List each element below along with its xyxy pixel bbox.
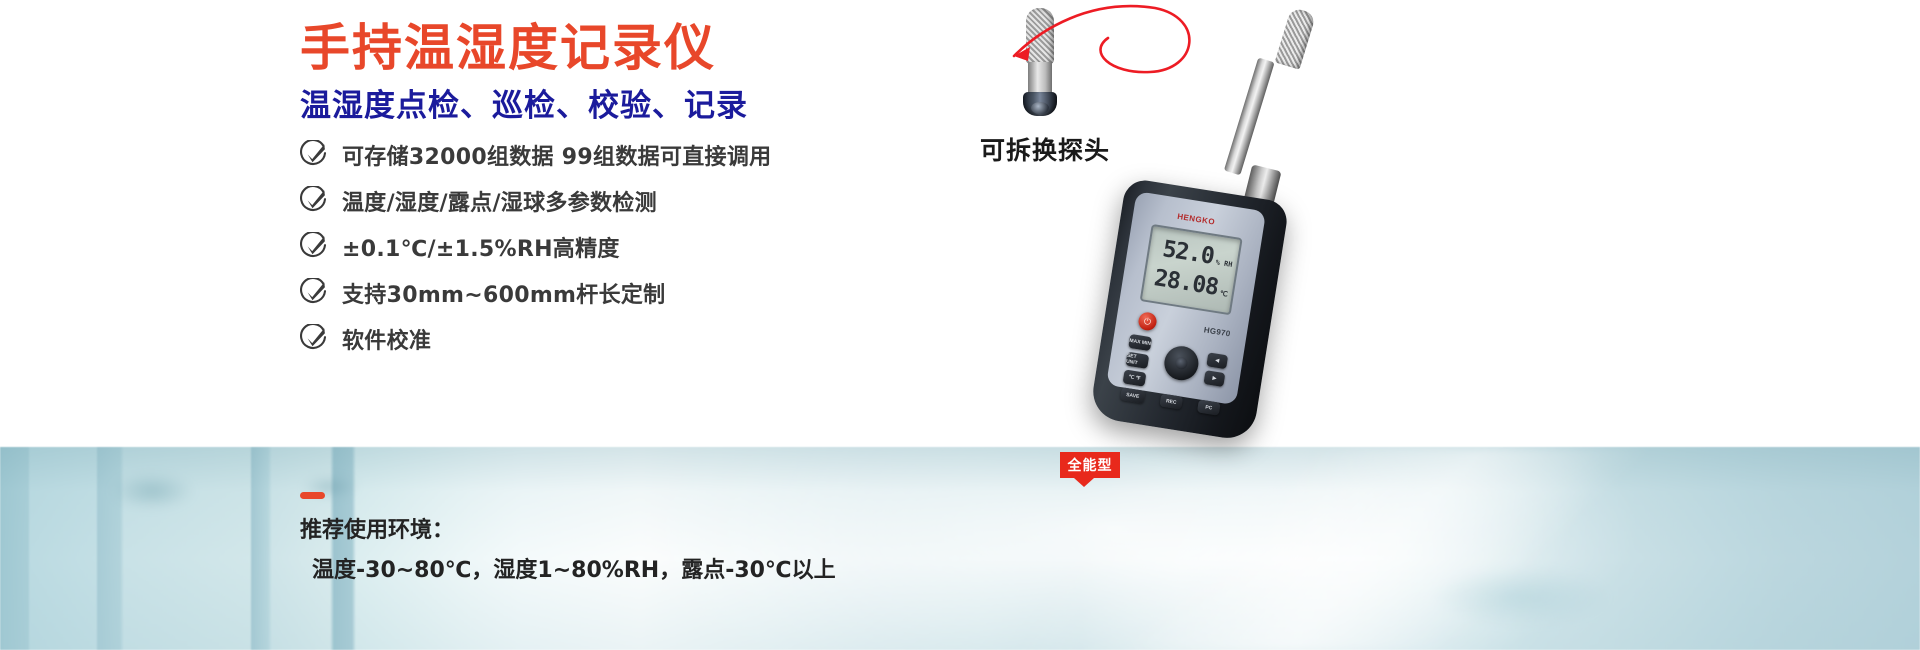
lcd-temperature-unit: ℃ — [1219, 289, 1228, 298]
lcd-humidity-value: 52.0 — [1161, 236, 1216, 270]
product-banner: 手持温湿度记录仪 温湿度点检、巡检、校验、记录 可存储32000组数据 99组数… — [0, 0, 1920, 650]
page-subtitle: 温湿度点检、巡检、校验、记录 — [300, 80, 748, 125]
handheld-meter-photo: HENGKO 52.0 % RH 28.08 ℃ ⏻ HG970 — [1122, 190, 1312, 440]
circle-check-icon — [300, 278, 328, 306]
attached-probe-stem — [1224, 58, 1275, 176]
lcd-display: 52.0 % RH 28.08 ℃ — [1140, 224, 1243, 315]
key-rec[interactable]: REC — [1159, 393, 1183, 409]
probe-callout-label: 可拆换探头 — [980, 131, 1110, 167]
model-label: HG970 — [1203, 325, 1231, 338]
circle-check-icon — [300, 232, 328, 260]
list-item-label: 可存储32000组数据 99组数据可直接调用 — [342, 139, 771, 171]
key-left[interactable]: ◀ — [1206, 352, 1228, 369]
power-button[interactable]: ⏻ — [1137, 311, 1158, 332]
list-item-label: 支持30mm~600mm杆长定制 — [342, 277, 665, 309]
list-item: 温度/湿度/露点/湿球多参数检测 — [300, 178, 771, 224]
keypad: MAX MIN SET UNIT ℃ ℉ ◀ ▶ SAVE REC PC — [1120, 332, 1235, 402]
circle-check-icon — [300, 324, 328, 352]
list-item: 支持30mm~600mm杆长定制 — [300, 270, 771, 316]
red-dash-marker — [300, 492, 325, 499]
lcd-temperature-value: 28.08 — [1152, 265, 1220, 301]
brand-logo: HENGKO — [1177, 212, 1216, 227]
environment-detail: 温度-30~80℃，湿度1~80%RH，露点-30℃以上 — [312, 552, 836, 584]
page-title: 手持温湿度记录仪 — [300, 8, 716, 80]
key-save[interactable]: SAVE — [1120, 387, 1146, 404]
key-set-unit[interactable]: SET UNIT — [1125, 352, 1149, 369]
meter-front-panel: HENGKO 52.0 % RH 28.08 ℃ ⏻ HG970 — [1106, 191, 1266, 405]
lcd-humidity-unit: % RH — [1215, 258, 1233, 269]
product-image-area: 可拆换探头 HENGKO 52.0 % RH 28.08 — [930, 0, 1430, 650]
environment-title: 推荐使用环境： — [300, 512, 454, 544]
circle-check-icon — [300, 140, 328, 168]
key-c-f[interactable]: ℃ ℉ — [1123, 369, 1147, 386]
status-badge: 全能型 — [1060, 452, 1120, 478]
callout-arrow-icon — [970, 0, 1220, 100]
circle-check-icon — [300, 186, 328, 214]
text-column: 手持温湿度记录仪 温湿度点检、巡检、校验、记录 可存储32000组数据 99组数… — [0, 0, 980, 447]
attached-probe-assembly — [1248, 8, 1358, 208]
list-item-label: ±0.1℃/±1.5%RH高精度 — [342, 231, 620, 263]
list-item: 可存储32000组数据 99组数据可直接调用 — [300, 132, 771, 178]
list-item-label: 软件校准 — [342, 323, 431, 355]
navigation-pad[interactable] — [1162, 344, 1201, 383]
meter-housing: HENGKO 52.0 % RH 28.08 ℃ ⏻ HG970 — [1089, 177, 1290, 442]
feature-list: 可存储32000组数据 99组数据可直接调用 温度/湿度/露点/湿球多参数检测 — [300, 132, 771, 362]
list-item: 软件校准 — [300, 316, 771, 362]
key-pc[interactable]: PC — [1197, 399, 1221, 415]
key-max-min[interactable]: MAX MIN — [1128, 334, 1152, 351]
list-item-label: 温度/湿度/露点/湿球多参数检测 — [342, 185, 657, 217]
attached-probe-mesh — [1275, 7, 1317, 70]
list-item: ±0.1℃/±1.5%RH高精度 — [300, 224, 771, 270]
key-right[interactable]: ▶ — [1203, 370, 1225, 387]
